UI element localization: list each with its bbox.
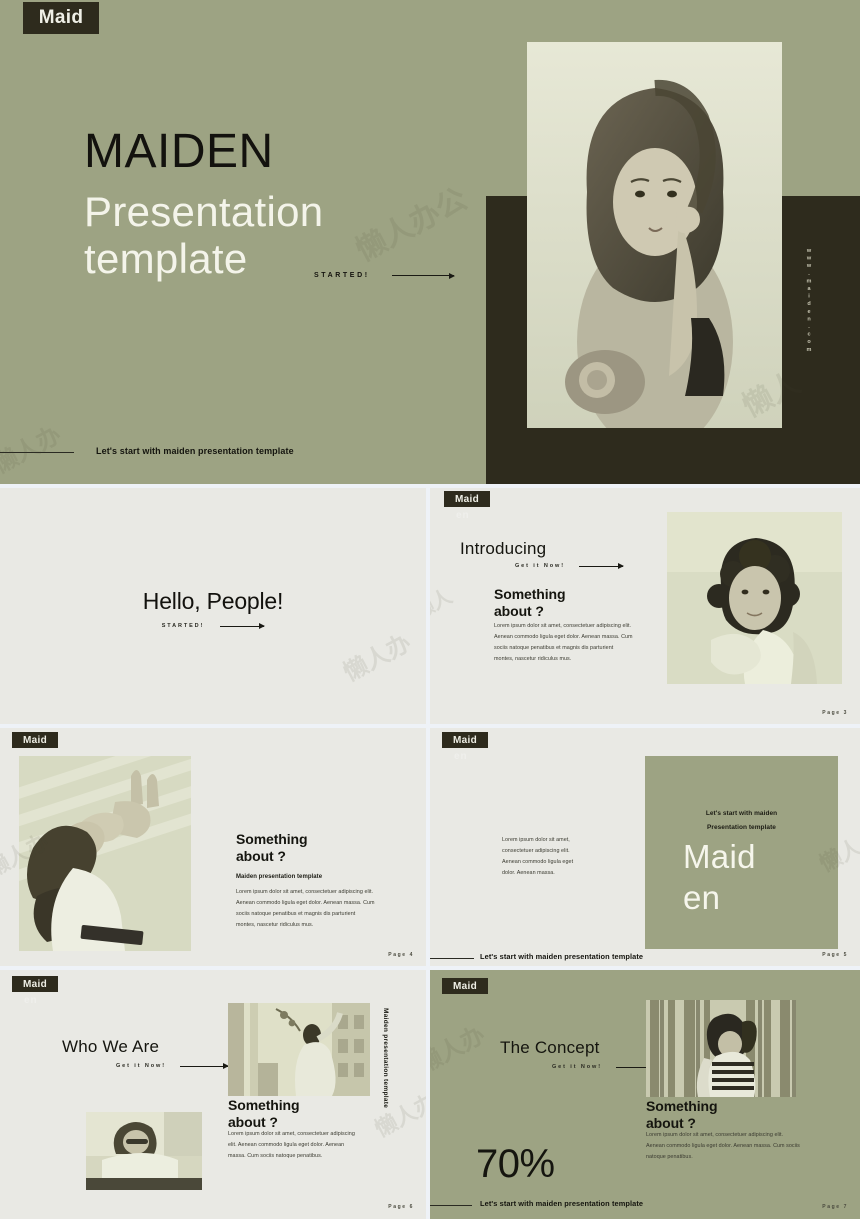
sub-line-1: Something bbox=[494, 586, 565, 603]
sub-heading: Something about ? bbox=[646, 1098, 717, 1132]
sub-line-1: Something bbox=[228, 1097, 299, 1114]
slide-deck: MAIDEN Presentation template STARTED! Le… bbox=[0, 0, 860, 1219]
card-big-title: Maiden bbox=[683, 836, 767, 919]
body-text: Lorem ipsum dolor sit amet, consectetuer… bbox=[646, 1130, 801, 1163]
sage-card: Let's start with maiden Presentation tem… bbox=[645, 756, 838, 949]
page-number: Page 6 bbox=[388, 1204, 414, 1210]
watermark: 懒人 bbox=[430, 580, 456, 624]
footer-rule bbox=[0, 452, 74, 453]
arrow-icon bbox=[180, 1066, 228, 1067]
get-it-now-kicker: Get it Now! bbox=[116, 1063, 166, 1069]
sub-line-1: Something bbox=[236, 831, 307, 848]
card-line-2: Presentation template bbox=[645, 824, 838, 831]
body-lead: Maiden presentation template bbox=[236, 874, 322, 880]
logo-text: Maid bbox=[23, 979, 47, 990]
title-line-1: MAIDEN bbox=[84, 128, 323, 176]
watermark: 懒人办公 bbox=[347, 174, 474, 269]
leaning-photo bbox=[86, 1112, 202, 1190]
logo-badge[interactable]: Maid bbox=[23, 2, 99, 34]
slide-title[interactable]: MAIDEN Presentation template STARTED! Le… bbox=[0, 0, 860, 484]
logo-ghost-text: en bbox=[456, 510, 470, 521]
portrait-photo bbox=[667, 512, 842, 684]
logo-badge[interactable]: Maid bbox=[444, 491, 490, 507]
footer-text: Let's start with maiden presentation tem… bbox=[96, 446, 294, 456]
reaching-photo bbox=[19, 756, 191, 951]
section-heading: Introducing bbox=[460, 539, 546, 559]
footer-rule bbox=[430, 1205, 472, 1206]
title-line-2: Presentation bbox=[84, 188, 323, 235]
slide-introducing[interactable]: Maid en Introducing Get it Now! Somethin… bbox=[430, 488, 860, 724]
section-heading: The Concept bbox=[500, 1038, 600, 1058]
logo-badge[interactable]: Maid bbox=[12, 976, 58, 992]
arrow-icon bbox=[579, 566, 623, 567]
footer-text: Let's start with maiden presentation tem… bbox=[480, 952, 643, 961]
sub-heading: Something about ? bbox=[236, 831, 307, 865]
footer-text: Let's start with maiden presentation tem… bbox=[480, 1199, 643, 1208]
section-heading: Who We Are bbox=[62, 1037, 159, 1057]
forest-photo bbox=[646, 1000, 796, 1097]
kicker-group: Get it Now! bbox=[116, 1063, 228, 1069]
watermark: 懒人办 bbox=[0, 415, 66, 480]
sub-line-2: about ? bbox=[494, 603, 565, 620]
body-text: Lorem ipsum dolor sit amet, consectetuer… bbox=[228, 1129, 363, 1162]
stat-value: 70% bbox=[476, 1142, 555, 1187]
slide-the-concept[interactable]: Maid The Concept Get it Now! bbox=[430, 970, 860, 1219]
sub-heading: Something about ? bbox=[228, 1097, 299, 1131]
slide-something-about[interactable]: Maid S bbox=[0, 728, 426, 966]
hero-photo bbox=[527, 42, 782, 428]
sub-line-1: Something bbox=[646, 1098, 717, 1115]
logo-text: Maid bbox=[455, 494, 479, 505]
body-text: Lorem ipsum dolor sit amet, consectetuer… bbox=[236, 887, 376, 931]
page-number: Page 5 bbox=[822, 952, 848, 958]
hello-heading: Hello, People! bbox=[0, 588, 426, 615]
sub-heading: Something about ? bbox=[494, 586, 565, 620]
arrow-icon bbox=[220, 626, 264, 627]
page-number: Page 3 bbox=[822, 710, 848, 716]
hello-kicker-group: STARTED! bbox=[0, 623, 426, 629]
watermark: 懒人办 bbox=[430, 1015, 490, 1080]
logo-badge[interactable]: Maid bbox=[442, 732, 488, 748]
slide-maiden-card[interactable]: Maid en Lorem ipsum dolor sit amet, cons… bbox=[430, 728, 860, 966]
title-block: MAIDEN Presentation template bbox=[84, 128, 323, 282]
balcony-photo bbox=[228, 1003, 370, 1096]
slide-hello[interactable]: Hello, People! STARTED! 懒人办 bbox=[0, 488, 426, 724]
website-url-vertical[interactable]: www.maiden.com bbox=[806, 248, 812, 354]
body-text: Lorem ipsum dolor sit amet, consectetuer… bbox=[502, 835, 577, 879]
logo-ghost-text: en bbox=[454, 751, 468, 762]
get-it-now-kicker: Get it Now! bbox=[552, 1064, 602, 1070]
get-it-now-kicker: Get it Now! bbox=[515, 563, 565, 569]
page-number: Page 4 bbox=[388, 952, 414, 958]
logo-text: Maid bbox=[23, 735, 47, 746]
logo-text: Maid bbox=[39, 7, 83, 29]
vertical-caption: Maiden presentation template bbox=[382, 1008, 389, 1108]
body-text: Lorem ipsum dolor sit amet, consectetuer… bbox=[494, 621, 634, 665]
logo-text: Maid bbox=[453, 981, 477, 992]
logo-badge[interactable]: Maid bbox=[12, 732, 58, 748]
logo-ghost-text: en bbox=[24, 995, 38, 1006]
arrow-icon bbox=[392, 275, 454, 276]
logo-text: Maid bbox=[453, 735, 477, 746]
footer-rule bbox=[430, 958, 474, 959]
watermark: 懒人办 bbox=[368, 1084, 426, 1143]
started-kicker-group: STARTED! bbox=[314, 272, 454, 279]
watermark: 懒人办 bbox=[336, 623, 416, 688]
started-kicker: STARTED! bbox=[162, 623, 205, 629]
slide-who-we-are[interactable]: Maid en Who We Are Get it Now! Maid bbox=[0, 970, 426, 1219]
card-line-1: Let's start with maiden bbox=[645, 810, 838, 817]
logo-badge[interactable]: Maid bbox=[442, 978, 488, 994]
page-number: Page 7 bbox=[822, 1204, 848, 1210]
kicker-group: Get it Now! bbox=[515, 563, 623, 569]
started-kicker: STARTED! bbox=[314, 272, 370, 279]
sub-line-2: about ? bbox=[236, 848, 307, 865]
title-line-3: template bbox=[84, 235, 323, 282]
